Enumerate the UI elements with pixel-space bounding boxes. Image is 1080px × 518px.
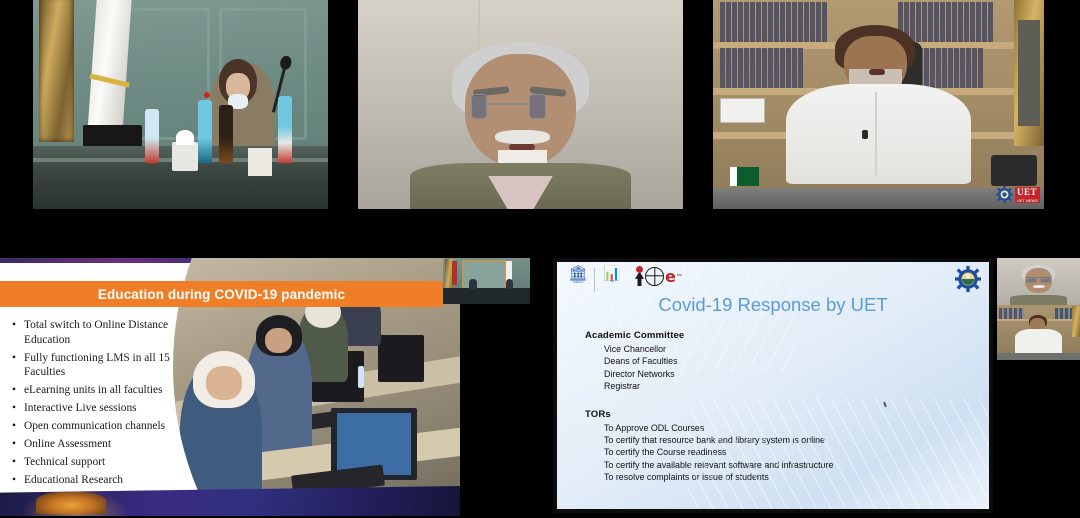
wall-picture-frame (1014, 0, 1044, 146)
list-item: To certify the available relevant softwa… (604, 459, 915, 471)
mustache (1033, 285, 1045, 288)
list-item: Deans of Faculties (604, 355, 915, 367)
list-item: To Approve ODL Courses (604, 422, 915, 434)
list-item: Fully functioning LMS in all 15 Facultie… (24, 351, 198, 380)
mouth (869, 69, 886, 75)
list-item: Interactive Live sessions (24, 401, 198, 416)
office-desk (713, 188, 1044, 209)
iioe-logo: e IIOE (635, 266, 682, 286)
flag (452, 261, 457, 285)
participant-tile-grey-background[interactable]: Older man with white hair, mustache and … (358, 0, 683, 209)
white-shirt (1015, 329, 1061, 354)
slide-title: Covid-19 Response by UET (557, 294, 989, 316)
bookshelf-books (912, 48, 1005, 88)
list-item: To certify that resource bank and librar… (604, 434, 915, 446)
mini-tile-grey-background-speaker[interactable] (997, 258, 1080, 305)
bookshelf-books (720, 48, 819, 88)
slide-banner: Education during COVID-19 pandemic (0, 281, 443, 307)
list-item: Online Assessment (24, 437, 198, 452)
slide-covid19-response-by-uet: 🏛 UNESCO 📊 IHE e IIOE (557, 262, 989, 509)
uet-sub-label: UET NEWS (1015, 198, 1040, 203)
desk-card (720, 98, 765, 123)
glasses-bridge (485, 103, 529, 105)
tissue-box (172, 142, 199, 171)
desk-phone (991, 155, 1037, 186)
eyeglasses-icon (465, 94, 576, 117)
section-heading-academic-committee: Academic Committee (585, 330, 915, 341)
list-item: Open communication channels (24, 419, 198, 434)
uet-gear-icon (996, 186, 1013, 203)
section-spacer (585, 393, 915, 409)
sanitizer-bottle (198, 100, 212, 163)
student-face (206, 366, 242, 400)
bookshelf-books (999, 308, 1024, 319)
iioe-figure-icon (635, 266, 644, 286)
globe-icon (645, 267, 664, 286)
mustache (495, 130, 550, 145)
slide-education-during-covid: Education during COVID-19 pandemic Total… (0, 258, 460, 516)
monitor (378, 335, 424, 381)
tissue-box (248, 148, 272, 175)
uet-gear-logo (955, 266, 981, 292)
unesco-logo: 🏛 UNESCO (567, 266, 589, 284)
logo-divider (594, 268, 595, 292)
slide-banner-title: Education during COVID-19 pandemic (98, 287, 345, 302)
shared-screen-right[interactable]: 🏛 UNESCO 📊 IHE e IIOE (553, 258, 993, 513)
conference-desk (443, 288, 530, 304)
lens (471, 94, 487, 119)
eyeglasses-icon (1026, 277, 1051, 282)
slide-bullet-list: Total switch to Online Distance Educatio… (10, 318, 198, 491)
list-item: Vice Chancellor (604, 343, 915, 355)
list-item: Technical support (24, 455, 198, 470)
slide-body: Academic Committee Vice Chancellor Deans… (585, 330, 915, 484)
mini-tile-office-speaker[interactable] (997, 305, 1080, 360)
lapel-microphone-icon (862, 130, 868, 139)
list-item: To certify the Course readiness (604, 446, 915, 458)
water-bottle (358, 366, 364, 388)
bullet-list: Total switch to Online Distance Educatio… (10, 318, 198, 488)
lens (529, 94, 545, 119)
uet-watermark: UET UET NEWS (996, 186, 1040, 203)
participant-tile-conference-room[interactable]: Woman in headscarf seated at conference … (33, 0, 328, 209)
shirt-placket (875, 92, 877, 176)
jacket (1010, 295, 1066, 305)
campus-building-image (36, 492, 106, 514)
list-item: eLearning units in all faculties (24, 383, 198, 398)
list-item: Total switch to Online Distance Educatio… (24, 318, 198, 347)
bookshelf-books (898, 2, 1004, 42)
video-conference-screen: Woman in headscarf seated at conference … (0, 0, 1080, 518)
list-item: Registrar (604, 380, 915, 392)
ihe-logo: 📊 IHE (600, 266, 624, 283)
pakistan-flag-icon (730, 167, 760, 186)
iioe-e-letter: e (665, 269, 676, 284)
recording-led-icon (204, 92, 210, 98)
bookshelf-books (720, 2, 833, 42)
participant-silhouette (506, 279, 514, 289)
uet-label: UET (1015, 187, 1040, 198)
list-item: Director Networks (604, 368, 915, 380)
white-shirt (786, 84, 971, 184)
water-bottle (145, 109, 159, 163)
list-item: Educational Research (24, 473, 198, 488)
slide-logo-row: 🏛 UNESCO 📊 IHE e IIOE (567, 266, 682, 292)
student-face (265, 328, 291, 354)
wall-picture-frame (39, 0, 74, 142)
participant-inset-conference-room[interactable] (443, 258, 530, 304)
participant-silhouette (469, 279, 477, 289)
sanitizer-bottle (219, 105, 233, 164)
sanitizer-bottle (278, 96, 292, 163)
iioe-logo-caption: IIOE (677, 274, 682, 277)
list-item: To resolve complaints or issue of studen… (604, 471, 915, 483)
section-heading-tors: TORs (585, 409, 915, 420)
participant-tile-office[interactable]: UET UET NEWS Man in white shirt seated i… (713, 0, 1044, 209)
wall-picture-frame (1072, 306, 1080, 337)
office-desk (997, 353, 1080, 360)
